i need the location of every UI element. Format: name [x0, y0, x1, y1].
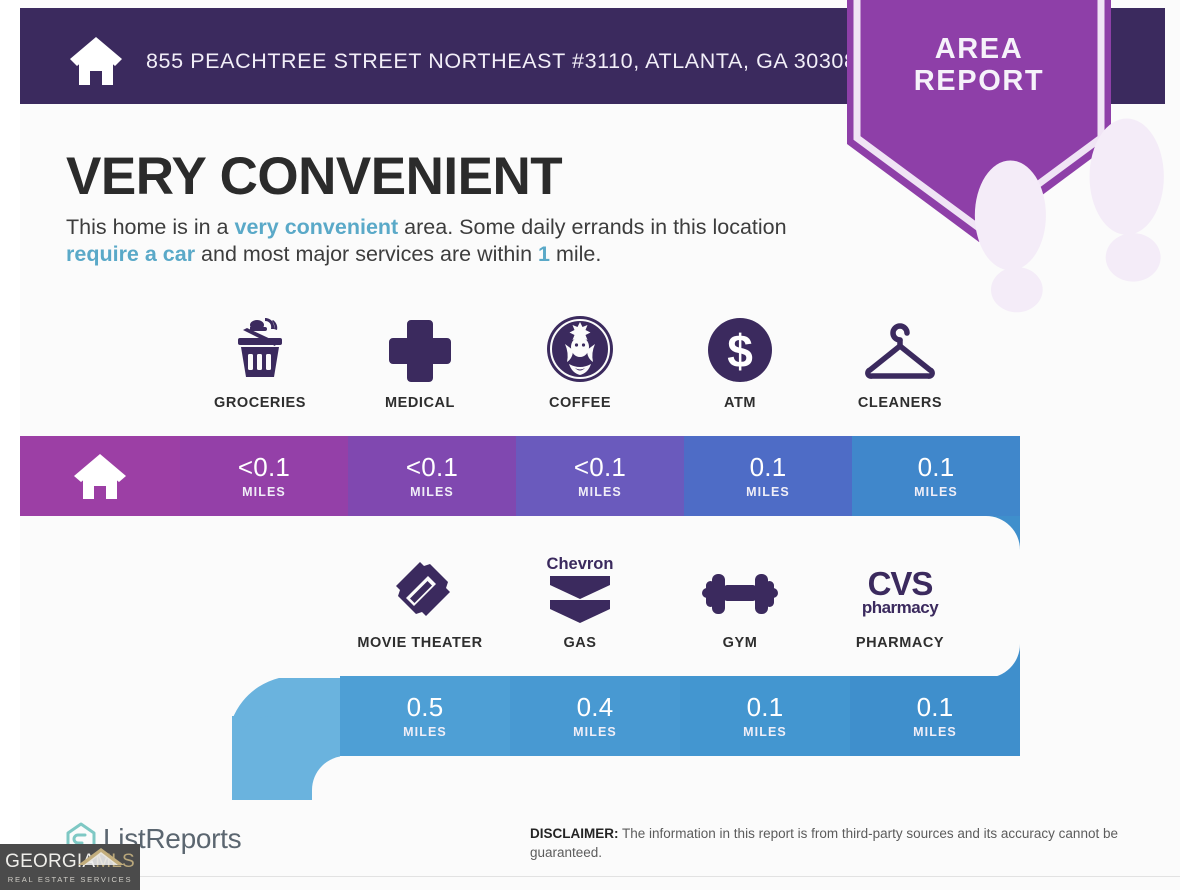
amenity-label: MEDICAL	[385, 395, 455, 411]
disclaimer-label: DISCLAIMER:	[530, 826, 619, 841]
subtitle-mid: area. Some daily errands in this locatio…	[398, 215, 786, 239]
distance-unit: MILES	[743, 725, 787, 739]
distance-unit: MILES	[914, 485, 958, 499]
amenity-atm[interactable]: $ ATM	[660, 312, 820, 411]
disclaimer-text: The information in this report is from t…	[530, 826, 1118, 860]
subtitle-distance: 1	[538, 242, 550, 266]
distance-value: 0.1	[747, 694, 784, 720]
distance-value: 0.1	[918, 454, 955, 480]
footprints-icon	[939, 112, 1019, 190]
bar-segment-pharmacy: 0.1 MILES	[850, 676, 1020, 756]
right-gutter	[1180, 0, 1200, 890]
distance-unit: MILES	[746, 485, 790, 499]
amenity-coffee[interactable]: COFFEE	[500, 312, 660, 411]
distance-value: <0.1	[238, 454, 290, 480]
badge-line-1: AREA	[843, 34, 1115, 66]
grocery-basket-icon	[224, 312, 296, 384]
area-report-badge: AREA REPORT	[843, 0, 1115, 246]
amenity-label: PHARMACY	[856, 635, 944, 651]
footer-divider	[20, 876, 1180, 877]
svg-text:$: $	[727, 325, 753, 377]
amenity-label: MOVIE THEATER	[357, 635, 482, 651]
starbucks-coffee-icon	[545, 312, 615, 384]
disclaimer: DISCLAIMER: The information in this repo…	[530, 824, 1140, 862]
area-report-page: 855 PEACHTREE STREET NORTHEAST #3110, AT…	[0, 0, 1200, 890]
bar-segment-cleaners: 0.1 MILES	[852, 436, 1020, 516]
bar-segment-gym: 0.1 MILES	[680, 676, 850, 756]
georgia-mls-watermark: GEORGIA MLS REAL ESTATE SERVICES	[0, 844, 140, 890]
amenity-label: GYM	[723, 635, 758, 651]
amenity-icons-row-1: GROCERIES MEDICAL	[180, 312, 980, 411]
amenity-medical[interactable]: MEDICAL	[340, 312, 500, 411]
bar-home-marker	[20, 436, 180, 516]
property-address: 855 PEACHTREE STREET NORTHEAST #3110, AT…	[146, 47, 857, 75]
amenity-label: GROCERIES	[214, 395, 306, 411]
mls-roof-icon	[76, 847, 126, 867]
movie-ticket-icon	[386, 552, 454, 624]
distance-value: <0.1	[574, 454, 626, 480]
clothes-hanger-icon	[862, 312, 938, 384]
subtitle-highlight-2: require a car	[66, 242, 195, 266]
amenity-label: CLEANERS	[858, 395, 942, 411]
bar-segment-gas: 0.4 MILES	[510, 676, 680, 756]
subtitle-post: mile.	[550, 242, 601, 266]
subtitle-pre: This home is in a	[66, 215, 234, 239]
dumbbell-gym-icon	[700, 552, 780, 624]
svg-text:Chevron: Chevron	[547, 555, 614, 573]
amenity-groceries[interactable]: GROCERIES	[180, 312, 340, 411]
amenity-label: ATM	[724, 395, 756, 411]
page-title: VERY CONVENIENT	[66, 146, 562, 207]
medical-cross-icon	[387, 312, 453, 384]
dollar-atm-icon: $	[706, 312, 774, 384]
amenity-label: GAS	[563, 635, 596, 651]
header-content: 855 PEACHTREE STREET NORTHEAST #3110, AT…	[68, 26, 858, 96]
bar-segment-medical: <0.1 MILES	[348, 436, 516, 516]
bar-segment-movie-theater: 0.5 MILES	[340, 676, 510, 756]
amenity-gym[interactable]: GYM	[660, 552, 820, 651]
page-subtitle: This home is in a very convenient area. …	[66, 214, 856, 269]
amenity-pharmacy[interactable]: CVS pharmacy PHARMACY	[820, 552, 980, 651]
subtitle-highlight-1: very convenient	[234, 215, 398, 239]
badge-line-2: REPORT	[843, 66, 1115, 98]
amenity-icons-row-2: MOVIE THEATER Chevron GAS	[340, 552, 980, 651]
svg-text:CVS: CVS	[868, 565, 933, 602]
distance-unit: MILES	[410, 485, 454, 499]
distance-unit: MILES	[578, 485, 622, 499]
distance-value: 0.5	[407, 694, 444, 720]
bar-segment-coffee: <0.1 MILES	[516, 436, 684, 516]
cvs-pharmacy-icon: CVS pharmacy	[852, 552, 948, 624]
left-gutter	[0, 0, 20, 890]
house-icon	[68, 35, 124, 87]
distance-value: 0.1	[750, 454, 787, 480]
distance-unit: MILES	[242, 485, 286, 499]
bar-segment-groceries: <0.1 MILES	[180, 436, 348, 516]
distance-unit: MILES	[913, 725, 957, 739]
badge-text: AREA REPORT	[843, 34, 1115, 98]
svg-text:pharmacy: pharmacy	[862, 598, 939, 617]
distance-bar-row-1: <0.1 MILES <0.1 MILES <0.1 MILES 0.1 MIL…	[20, 436, 1020, 516]
watermark-subtitle: REAL ESTATE SERVICES	[8, 875, 132, 884]
distance-unit: MILES	[573, 725, 617, 739]
bar-segment-atm: 0.1 MILES	[684, 436, 852, 516]
chevron-gas-icon: Chevron	[542, 552, 618, 624]
subtitle-mid-2: and most major services are within	[195, 242, 538, 266]
distance-value: 0.1	[917, 694, 954, 720]
amenity-label: COFFEE	[549, 395, 611, 411]
distance-value: 0.4	[577, 694, 614, 720]
distance-value: <0.1	[406, 454, 458, 480]
amenity-movie-theater[interactable]: MOVIE THEATER	[340, 552, 500, 651]
distance-unit: MILES	[403, 725, 447, 739]
distance-bar-row-2: 0.5 MILES 0.4 MILES 0.1 MILES 0.1 MILES	[340, 676, 1020, 756]
amenity-gas[interactable]: Chevron GAS	[500, 552, 660, 651]
